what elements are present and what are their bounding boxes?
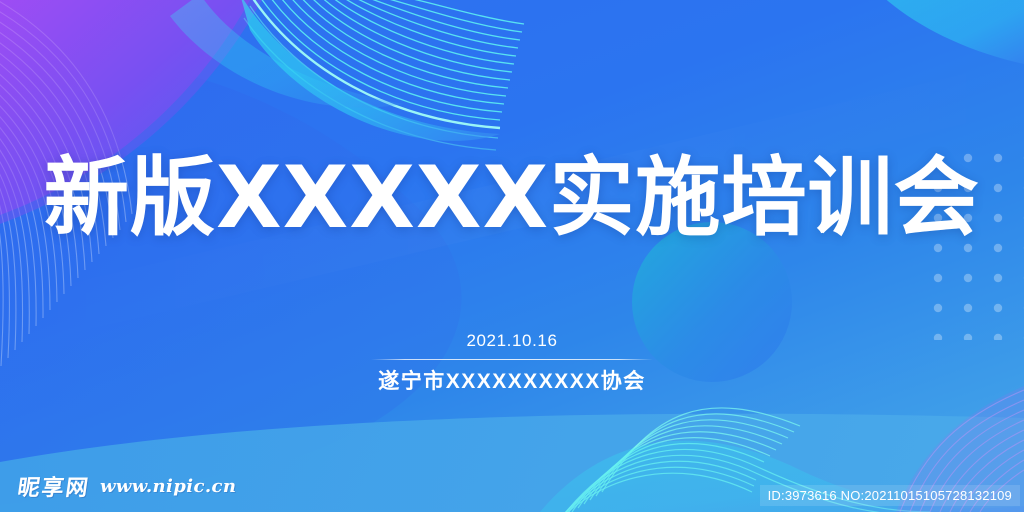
watermark-url: www.nipic.cn [100, 476, 236, 497]
divider-line [371, 359, 653, 360]
nipic-logo: 昵享网 [16, 470, 93, 502]
background-decoration [0, 0, 1024, 512]
cyan-arc-lines [244, 0, 524, 150]
image-id-text: ID:3973616 NO:20211015105728132109 [760, 485, 1020, 506]
title-block: 新版XXXXX实施培训会 [0, 150, 1024, 246]
watermark: 昵享网 www.nipic.cn [18, 470, 236, 502]
event-date: 2021.10.16 [0, 330, 1024, 352]
poster-canvas: 新版XXXXX实施培训会 2021.10.16 遂宁市XXXXXXXXXX协会 … [0, 0, 1024, 512]
organizer-name: 遂宁市XXXXXXXXXX协会 [0, 369, 1024, 395]
page-title: 新版XXXXX实施培训会 [44, 150, 980, 246]
subtitle-block: 2021.10.16 遂宁市XXXXXXXXXX协会 [0, 330, 1024, 395]
